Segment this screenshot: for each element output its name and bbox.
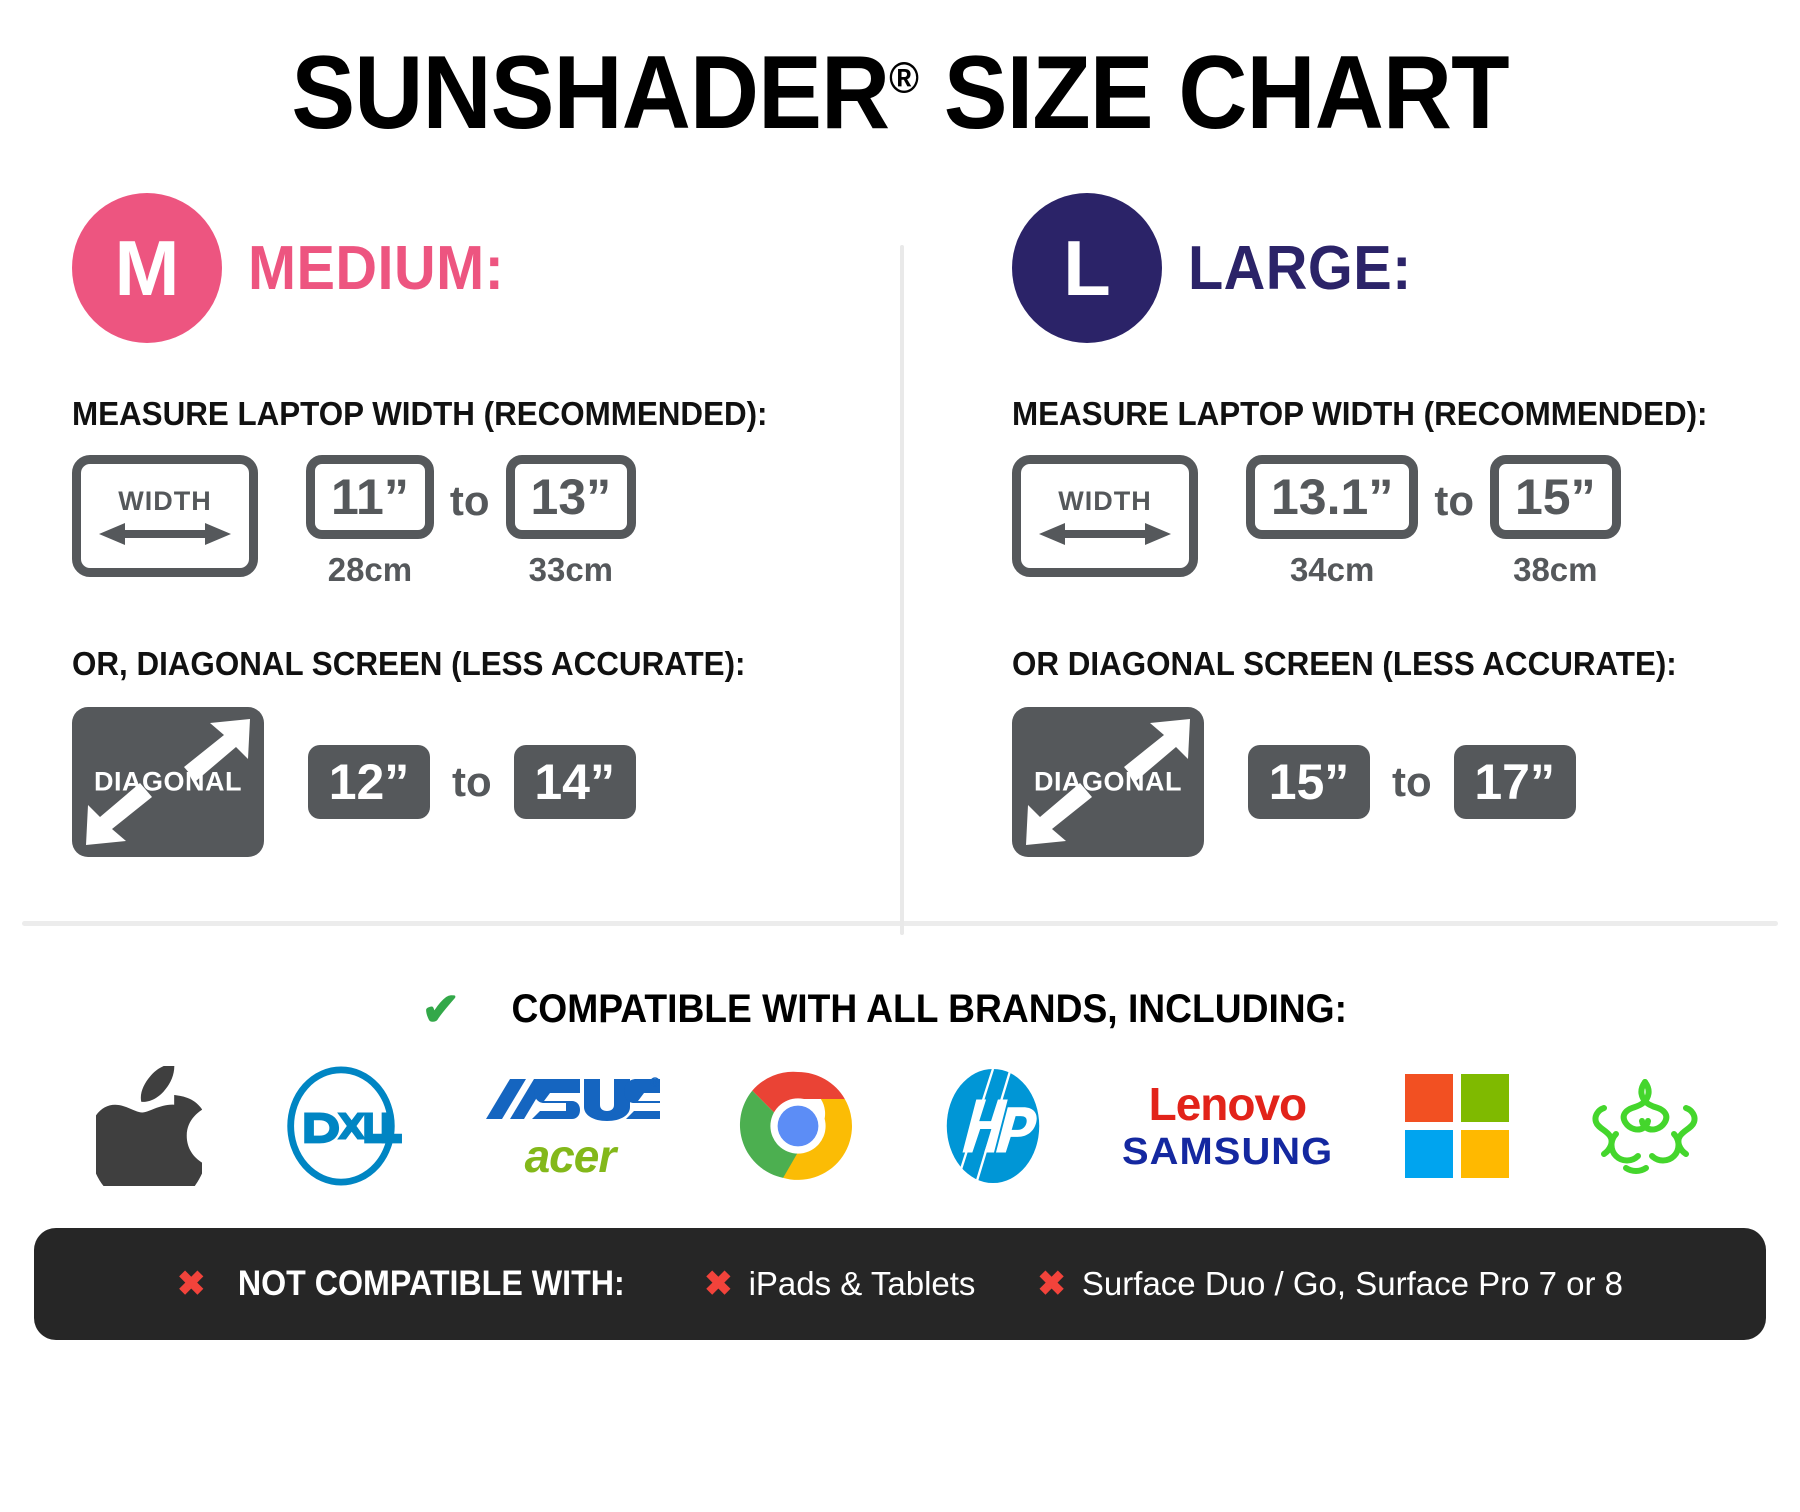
medium-width-connector: to — [434, 477, 506, 525]
large-diagonal-row: DIAGONAL 15” to 17” — [1012, 707, 1728, 857]
large-header: L LARGE: — [1012, 193, 1728, 343]
microsoft-logo-icon — [1405, 1074, 1509, 1178]
width-icon-caption: WIDTH — [118, 486, 211, 517]
size-column-large: L LARGE: MEASURE LAPTOP WIDTH (RECOMMEND… — [900, 193, 1800, 857]
brand-logo-razer — [1586, 1066, 1704, 1186]
chrome-logo-icon — [737, 1066, 859, 1186]
not-compatible-item-label: Surface Duo / Go, Surface Pro 7 or 8 — [1082, 1265, 1623, 1303]
not-compatible-heading-group: ✖ NOT COMPATIBLE WITH: — [177, 1264, 642, 1304]
x-icon: ✖ — [704, 1267, 733, 1301]
x-icon: ✖ — [1037, 1267, 1066, 1301]
large-width-connector: to — [1418, 477, 1490, 525]
medium-width-max-cm: 33cm — [529, 551, 613, 589]
large-width-min: 13.1” — [1246, 455, 1418, 539]
compatible-heading: COMPATIBLE WITH ALL BRANDS, INCLUDING: — [511, 987, 1347, 1032]
medium-header: M MEDIUM: — [72, 193, 828, 343]
width-icon: WIDTH — [1012, 455, 1198, 577]
not-compatible-item-label: iPads & Tablets — [749, 1265, 976, 1303]
medium-width-min-group: 11” 28cm — [306, 455, 434, 589]
large-width-max: 15” — [1490, 455, 1621, 539]
brand-logo-row: R acer — [0, 1032, 1800, 1186]
large-width-min-cm: 34cm — [1290, 551, 1374, 589]
brand-logo-chrome — [737, 1066, 859, 1186]
not-compatible-item-1: ✖ iPads & Tablets — [704, 1265, 975, 1303]
medium-diagonal-label: OR, DIAGONAL SCREEN (LESS ACCURATE): — [72, 645, 790, 683]
large-diagonal-max: 17” — [1454, 745, 1576, 819]
brand-logo-dell — [279, 1066, 403, 1186]
arrow-down-left-icon — [1022, 779, 1108, 849]
brand-logo-lenovo-samsung: Lenovo SAMSUNG — [1127, 1066, 1328, 1186]
asus-logo-icon: R — [480, 1073, 660, 1127]
large-width-row: WIDTH 13.1” 34cm to 15” 38cm — [1012, 455, 1728, 589]
razer-logo-icon — [1586, 1072, 1704, 1180]
diagonal-icon: DIAGONAL — [72, 707, 264, 857]
large-width-label: MEASURE LAPTOP WIDTH (RECOMMENDED): — [1012, 395, 1692, 433]
medium-width-label: MEASURE LAPTOP WIDTH (RECOMMENDED): — [72, 395, 790, 433]
medium-width-row: WIDTH 11” 28cm to 13” 33cm — [72, 455, 828, 589]
lenovo-wordmark: Lenovo — [1149, 1081, 1307, 1127]
size-badge-letter: L — [1063, 229, 1111, 307]
size-chart-page: SUNSHADER® SIZE CHART M MEDIUM: MEASURE … — [0, 0, 1800, 1512]
x-icon: ✖ — [177, 1267, 206, 1301]
large-diagonal-label: OR DIAGONAL SCREEN (LESS ACCURATE): — [1012, 645, 1692, 683]
width-icon: WIDTH — [72, 455, 258, 577]
size-name-medium: MEDIUM: — [248, 233, 504, 304]
not-compatible-heading: NOT COMPATIBLE WITH: — [238, 1264, 625, 1304]
size-columns: M MEDIUM: MEASURE LAPTOP WIDTH (RECOMMEN… — [0, 193, 1800, 857]
brand-logo-asus-acer: R acer — [480, 1066, 660, 1186]
not-compatible-item-2: ✖ Surface Duo / Go, Surface Pro 7 or 8 — [1037, 1265, 1623, 1303]
width-icon-caption: WIDTH — [1058, 486, 1151, 517]
acer-wordmark: acer — [525, 1133, 616, 1179]
svg-text:R: R — [653, 1081, 658, 1087]
page-title: SUNSHADER® SIZE CHART — [72, 0, 1728, 153]
double-arrow-horizontal-icon — [1035, 521, 1175, 547]
registered-trademark-icon: ® — [889, 53, 918, 102]
size-badge-medium: M — [72, 193, 222, 343]
check-icon: ✔ — [422, 986, 461, 1032]
not-compatible-bar: ✖ NOT COMPATIBLE WITH: ✖ iPads & Tablets… — [34, 1228, 1766, 1340]
medium-width-max: 13” — [506, 455, 637, 539]
medium-diagonal-row: DIAGONAL 12” to 14” — [72, 707, 828, 857]
brand-logo-apple — [96, 1066, 202, 1186]
double-arrow-horizontal-icon — [95, 521, 235, 547]
page-title-suffix: SIZE CHART — [918, 35, 1509, 151]
medium-diagonal-connector: to — [430, 758, 514, 806]
size-name-large: LARGE: — [1188, 233, 1412, 304]
arrow-down-left-icon — [82, 779, 168, 849]
hp-logo-icon — [936, 1066, 1050, 1186]
diagonal-icon: DIAGONAL — [1012, 707, 1204, 857]
medium-width-min: 11” — [306, 455, 434, 539]
samsung-wordmark: SAMSUNG — [1122, 1133, 1333, 1171]
size-badge-letter: M — [115, 229, 180, 307]
large-diagonal-connector: to — [1370, 758, 1454, 806]
dell-logo-icon — [279, 1066, 403, 1186]
medium-diagonal-min: 12” — [308, 745, 430, 819]
large-diagonal-min: 15” — [1248, 745, 1370, 819]
large-width-max-cm: 38cm — [1513, 551, 1597, 589]
large-width-min-group: 13.1” 34cm — [1246, 455, 1418, 589]
medium-width-min-cm: 28cm — [328, 551, 412, 589]
medium-width-max-group: 13” 33cm — [506, 455, 637, 589]
large-width-max-group: 15” 38cm — [1490, 455, 1621, 589]
medium-diagonal-max: 14” — [514, 745, 636, 819]
brand-logo-hp — [936, 1066, 1050, 1186]
size-column-medium: M MEDIUM: MEASURE LAPTOP WIDTH (RECOMMEN… — [0, 193, 900, 857]
apple-logo-icon — [96, 1066, 202, 1186]
compatible-heading-row: ✔ COMPATIBLE WITH ALL BRANDS, INCLUDING: — [0, 986, 1800, 1032]
size-badge-large: L — [1012, 193, 1162, 343]
page-title-brand: SUNSHADER — [291, 35, 889, 151]
brand-logo-microsoft — [1405, 1066, 1509, 1186]
